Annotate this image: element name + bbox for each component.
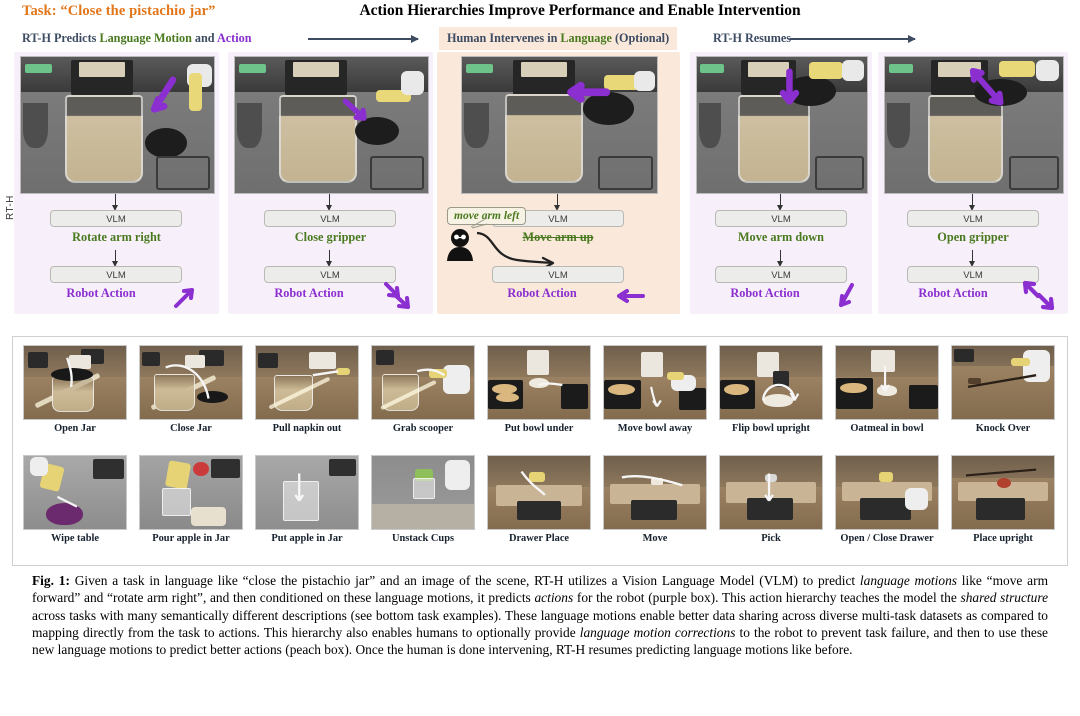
example-caption: Flip bowl upright	[719, 423, 823, 434]
stage-2-mid: (Optional)	[612, 31, 669, 45]
vlm-box-1b: VLM	[50, 266, 182, 283]
stage-3-prefix: RT-H Resumes	[713, 31, 791, 45]
example-cell[interactable]: Grab scooper	[371, 345, 475, 445]
example-cell[interactable]: Unstack Cups	[371, 455, 475, 555]
trajectory-stroke-icon	[488, 346, 590, 419]
robot-action-label-5: Robot Action	[878, 286, 1028, 301]
example-cell[interactable]: Pour apple in Jar	[139, 455, 243, 555]
stage-header-resumes: RT-H Resumes	[713, 27, 791, 49]
language-motion-5: Open gripper	[878, 230, 1068, 245]
example-caption: Put bowl under	[487, 423, 591, 434]
example-cell[interactable]: Place upright	[951, 455, 1055, 555]
action-arrow-overlay-5-icon	[960, 65, 1013, 109]
robot-action-label-1: Robot Action	[26, 286, 176, 301]
example-caption: Move	[603, 533, 707, 544]
example-thumbnail	[371, 345, 475, 420]
example-cell[interactable]: Open Jar	[23, 345, 127, 445]
figure-title: Action Hierarchies Improve Performance a…	[0, 2, 1080, 20]
diagram-panels: RT-H VLM Rotate arm right VL	[0, 52, 1080, 314]
scene-photo-2	[234, 56, 429, 194]
trajectory-stroke-icon	[836, 346, 938, 419]
example-caption: Knock Over	[951, 423, 1055, 434]
example-thumbnail	[255, 455, 359, 530]
example-caption: Open Jar	[23, 423, 127, 434]
example-caption: Place upright	[951, 533, 1055, 544]
stage-1-mid: and	[192, 31, 217, 45]
panel-move-arm-down: VLM Move arm down VLM Robot Action	[690, 52, 872, 314]
figure-caption: Fig. 1: Given a task in language like “c…	[32, 572, 1048, 658]
robot-action-arrow-1-icon	[172, 284, 198, 310]
trajectory-stroke-icon	[488, 456, 590, 529]
example-caption: Pull napkin out	[255, 423, 359, 434]
scene-photo-5	[884, 56, 1064, 194]
example-thumbnail	[23, 345, 127, 420]
example-thumbnail	[487, 455, 591, 530]
flow-arrow-3a-icon	[557, 194, 558, 206]
vlm-box-4a: VLM	[715, 210, 847, 227]
action-arrow-overlay-4-icon	[775, 68, 804, 109]
stage-header-predict: RT-H Predicts Language Motion and Action	[22, 27, 251, 49]
example-cell[interactable]: Pull napkin out	[255, 345, 359, 445]
flow-arrow-5a-icon	[972, 194, 973, 206]
flow-arrow-5b-icon	[972, 250, 973, 262]
example-thumbnail	[719, 345, 823, 420]
caption-em1: language motions	[860, 573, 957, 588]
example-caption: Pick	[719, 533, 823, 544]
stage-arrow-1-icon	[308, 38, 418, 40]
caption-part1: Given a task in language like “close the…	[70, 573, 860, 588]
top-header: Task: “Close the pistachio jar” Action H…	[0, 0, 1080, 26]
vlm-box-2a: VLM	[264, 210, 396, 227]
action-arrow-overlay-2-icon	[335, 92, 377, 127]
flow-arrow-2b-icon	[329, 250, 330, 262]
trajectory-stroke-icon	[604, 346, 706, 419]
stage-header-intervene: Human Intervenes in Language (Optional)	[439, 27, 677, 50]
example-thumbnail	[835, 455, 939, 530]
example-thumbnail	[603, 455, 707, 530]
example-caption: Put apple in Jar	[255, 533, 359, 544]
task-examples-grid: Open Jar Close Jar	[12, 336, 1068, 566]
stage-arrow-2-icon	[790, 38, 915, 40]
panel-close-gripper: VLM Close gripper VLM Robot Action	[228, 52, 433, 314]
action-arrow-overlay-1-icon	[137, 76, 183, 121]
robot-action-label-2: Robot Action	[234, 286, 384, 301]
trajectory-stroke-icon	[140, 346, 242, 419]
trajectory-stroke-icon	[604, 456, 706, 529]
panel-human-intervention: VLM Move arm up move arm left VLM Robot …	[437, 52, 680, 314]
example-cell[interactable]: Move	[603, 455, 707, 555]
trajectory-stroke-icon	[952, 456, 1054, 529]
flow-arrow-2a-icon	[329, 194, 330, 206]
robot-action-arrow-4-icon	[834, 282, 860, 310]
example-thumbnail	[371, 455, 475, 530]
example-thumbnail	[487, 345, 591, 420]
stage-header-row: RT-H Predicts Language Motion and Action…	[0, 27, 1080, 51]
trajectory-stroke-icon	[720, 346, 822, 419]
example-cell[interactable]: Open / Close Drawer	[835, 455, 939, 555]
scene-photo-3	[461, 56, 658, 194]
example-cell[interactable]: Move bowl away	[603, 345, 707, 445]
example-caption: Oatmeal in bowl	[835, 423, 939, 434]
example-caption: Close Jar	[139, 423, 243, 434]
example-caption: Unstack Cups	[371, 533, 475, 544]
trajectory-stroke-icon	[952, 346, 1054, 419]
stage-1-purple: Action	[217, 31, 252, 45]
language-motion-4: Move arm down	[690, 230, 872, 245]
scene-photo-1	[20, 56, 215, 194]
scene-photo-4	[696, 56, 868, 194]
panel-rotate-arm-right: VLM Rotate arm right VLM Robot Action	[14, 52, 219, 314]
example-cell[interactable]: Knock Over	[951, 345, 1055, 445]
example-cell[interactable]: Flip bowl upright	[719, 345, 823, 445]
example-thumbnail	[255, 345, 359, 420]
example-caption: Move bowl away	[603, 423, 707, 434]
caption-part3: for the robot (purple box). This action …	[573, 590, 960, 605]
caption-label: Fig. 1:	[32, 573, 70, 588]
example-caption: Pour apple in Jar	[139, 533, 243, 544]
vlm-box-5a: VLM	[907, 210, 1039, 227]
flow-arrow-4b-icon	[780, 250, 781, 262]
flow-arrow-4a-icon	[780, 194, 781, 206]
example-caption: Drawer Place	[487, 533, 591, 544]
language-motion-1: Rotate arm right	[14, 230, 219, 245]
example-thumbnail	[139, 455, 243, 530]
caption-em4: language motion corrections	[580, 625, 736, 640]
vlm-box-3b: VLM	[492, 266, 624, 283]
example-cell[interactable]: Close Jar	[139, 345, 243, 445]
trajectory-stroke-icon	[256, 346, 358, 419]
stage-2-prefix: Human Intervenes in	[447, 31, 560, 45]
action-arrow-overlay-3-icon	[560, 80, 611, 104]
flow-arrow-1b-icon	[115, 250, 116, 262]
example-thumbnail	[951, 455, 1055, 530]
example-thumbnail	[23, 455, 127, 530]
example-caption: Wipe table	[23, 533, 127, 544]
trajectory-stroke-icon	[372, 346, 474, 419]
example-caption: Grab scooper	[371, 423, 475, 434]
example-cell[interactable]: Put bowl under	[487, 345, 591, 445]
example-cell[interactable]: Put apple in Jar	[255, 455, 359, 555]
caption-em2: actions	[534, 590, 573, 605]
stage-2-green: Language	[560, 31, 611, 45]
stage-1-green: Language Motion	[99, 31, 191, 45]
panel-open-gripper: VLM Open gripper VLM Robot Action	[878, 52, 1068, 314]
language-motion-2: Close gripper	[228, 230, 433, 245]
robot-action-arrow-5-icon	[1018, 278, 1058, 312]
robot-action-arrow-3-icon	[613, 286, 647, 306]
robot-action-label-4: Robot Action	[690, 286, 840, 301]
stage-1-prefix: RT-H Predicts	[22, 31, 99, 45]
example-thumbnail	[139, 345, 243, 420]
flow-arrow-1a-icon	[115, 194, 116, 206]
example-cell[interactable]: Oatmeal in bowl	[835, 345, 939, 445]
robot-action-label-3: Robot Action	[467, 286, 617, 301]
caption-em3: shared structure	[961, 590, 1049, 605]
example-thumbnail	[951, 345, 1055, 420]
example-cell[interactable]: Wipe table	[23, 455, 127, 555]
trajectory-stroke-icon	[24, 346, 126, 419]
example-thumbnail	[719, 455, 823, 530]
vlm-box-1a: VLM	[50, 210, 182, 227]
example-thumbnail	[603, 345, 707, 420]
robot-action-arrow-2-icon	[380, 280, 414, 312]
vlm-box-4b: VLM	[715, 266, 847, 283]
trajectory-stroke-icon	[24, 456, 126, 529]
example-cell[interactable]: Drawer Place	[487, 455, 591, 555]
example-cell[interactable]: Pick	[719, 455, 823, 555]
trajectory-stroke-icon	[720, 456, 822, 529]
vlm-box-2b: VLM	[264, 266, 396, 283]
example-caption: Open / Close Drawer	[835, 533, 939, 544]
example-thumbnail	[835, 345, 939, 420]
trajectory-stroke-icon	[256, 456, 358, 529]
